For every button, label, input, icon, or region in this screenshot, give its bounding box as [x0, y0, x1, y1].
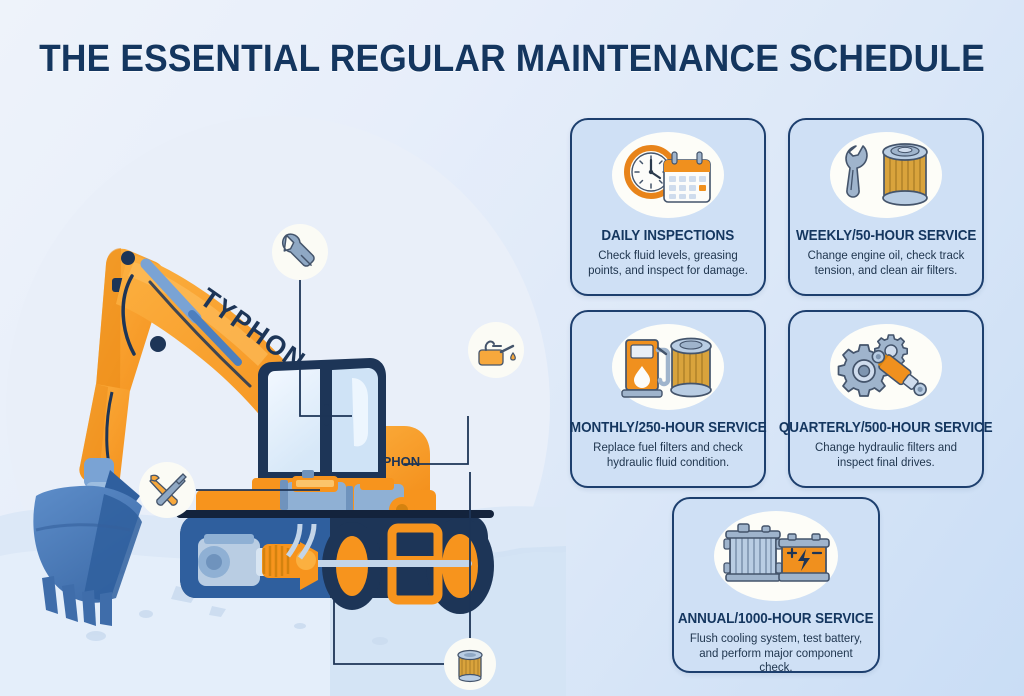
callout-tools-badge	[139, 462, 195, 518]
radiator-icon	[724, 524, 782, 581]
calendar-icon	[664, 152, 710, 202]
card-description: Change engine oil, check track tension, …	[805, 248, 967, 277]
card-description: Flush cooling system, test battery, and …	[690, 631, 863, 675]
card-title: QUARTERLY/500-HOUR SERVICE	[779, 419, 993, 436]
oil-filter-icon	[883, 144, 927, 205]
excavator-illustration: TYPHON	[0, 86, 566, 696]
card-title: MONTHLY/250-HOUR SERVICE	[570, 419, 767, 436]
track-top-rail	[176, 510, 494, 518]
card-daily-icon-group	[612, 132, 724, 218]
card-weekly-50-hour-service[interactable]: WEEKLY/50-HOUR SERVICE Change engine oil…	[788, 118, 984, 296]
oil-filter-icon	[458, 651, 482, 682]
oil-filter-icon	[671, 339, 711, 397]
infographic-poster: THE ESSENTIAL REGULAR MAINTENANCE SCHEDU…	[0, 0, 1024, 696]
cab-window-side-highlight	[352, 378, 368, 446]
card-annual-1000-hour-service[interactable]: ANNUAL/1000-HOUR SERVICE Flush cooling s…	[672, 497, 880, 673]
final-drive-assembly	[198, 534, 318, 590]
fuel-pump-icon	[622, 340, 668, 397]
card-daily-inspections[interactable]: DAILY INSPECTIONS Check fluid levels, gr…	[570, 118, 766, 296]
battery-icon	[779, 534, 829, 581]
cab-window-front	[268, 369, 320, 472]
boom-pivot-upper	[121, 251, 135, 265]
page-title: THE ESSENTIAL REGULAR MAINTENANCE SCHEDU…	[36, 36, 988, 82]
boom-pivot-mid	[150, 336, 166, 352]
card-title: WEEKLY/50-HOUR SERVICE	[796, 227, 976, 244]
card-description: Check fluid levels, greasing points, and…	[587, 248, 749, 277]
callout-filter-badge	[444, 638, 496, 690]
card-quarterly-icon-group	[830, 324, 942, 410]
callout-wrench-badge	[272, 224, 328, 280]
callout-oilcan-badge	[468, 322, 524, 378]
card-quarterly-500-hour-service[interactable]: QUARTERLY/500-HOUR SERVICE Change hydrau…	[788, 310, 984, 488]
card-monthly-250-hour-service[interactable]: MONTHLY/250-HOUR SERVICE Replace fuel fi…	[570, 310, 766, 488]
card-monthly-icon-group	[612, 324, 724, 410]
card-description: Replace fuel filters and check hydraulic…	[587, 440, 749, 469]
card-annual-icon-group	[714, 511, 838, 601]
card-description: Change hydraulic filters and inspect fin…	[805, 440, 967, 469]
card-title: ANNUAL/1000-HOUR SERVICE	[678, 610, 874, 627]
cab-door-handle	[324, 404, 329, 426]
wrench-icon	[846, 146, 867, 197]
card-title: DAILY INSPECTIONS	[602, 227, 735, 244]
card-weekly-icon-group	[830, 132, 942, 218]
